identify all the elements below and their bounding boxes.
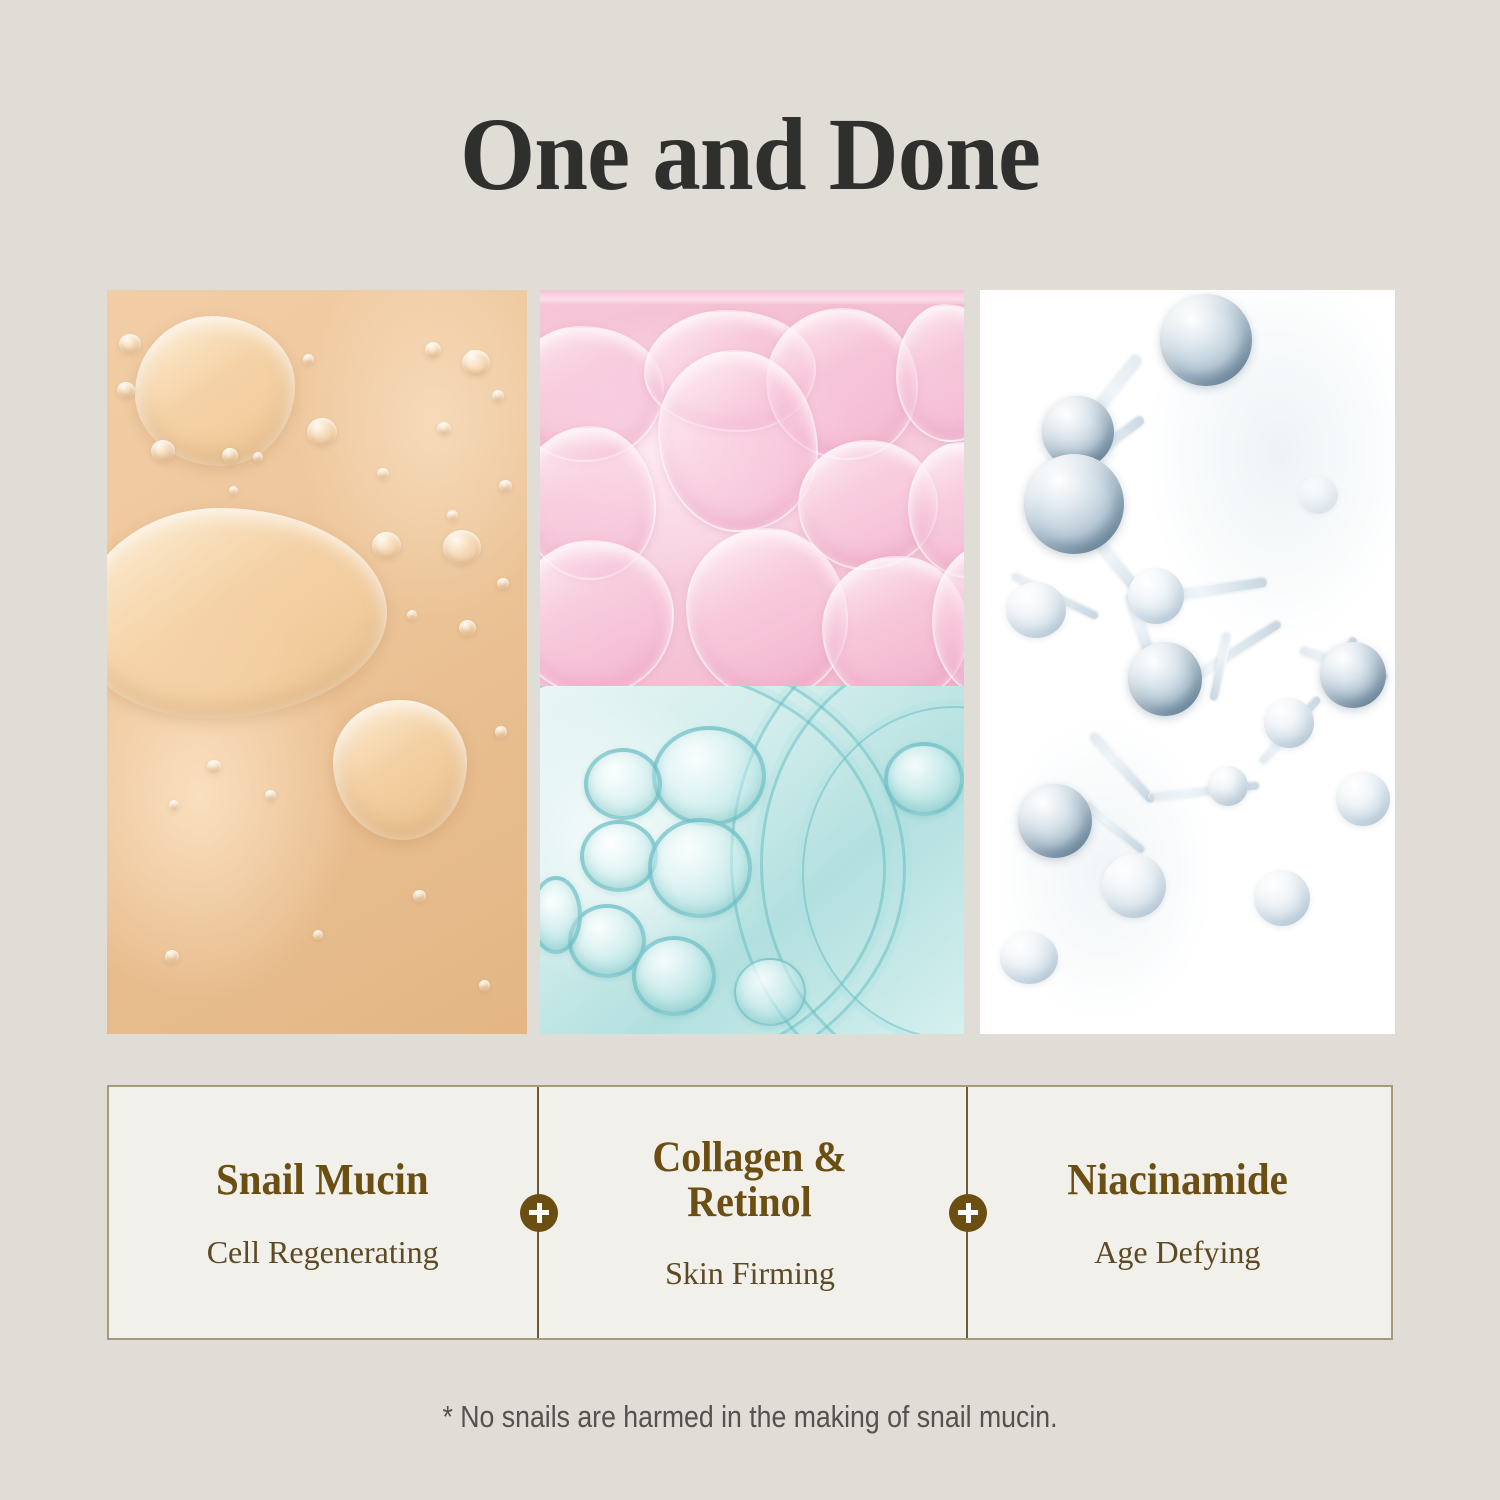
bubble-icon: [584, 748, 662, 820]
molecule-atom-icon: [1336, 772, 1390, 826]
droplet-icon: [119, 334, 141, 354]
ingredients-panel: Snail Mucin Cell Regenerating Collagen &…: [107, 1085, 1393, 1340]
droplet-icon: [499, 480, 512, 492]
droplet-icon: [165, 950, 179, 963]
molecule-atom-icon: [1160, 294, 1252, 386]
molecule-atom-icon: [1208, 766, 1248, 806]
footnote-disclaimer: * No snails are harmed in the making of …: [105, 1398, 1395, 1436]
bubble-icon: [580, 820, 658, 892]
droplet-icon: [229, 486, 238, 495]
droplet-icon: [307, 418, 337, 446]
ingredient-benefit: Skin Firming: [665, 1255, 835, 1291]
molecule-atom-icon: [1006, 582, 1066, 638]
droplet-icon: [459, 620, 476, 636]
ingredient-benefit: Cell Regenerating: [207, 1234, 439, 1270]
ingredient-cell-niacinamide: Niacinamide Age Defying: [964, 1087, 1391, 1338]
droplet-icon: [407, 610, 417, 620]
droplet-icon: [479, 980, 490, 991]
droplet-icon: [377, 468, 389, 479]
plus-icon: [949, 1194, 987, 1232]
molecule-atom-icon: [1264, 698, 1314, 748]
molecule-atom-icon: [1128, 568, 1184, 624]
pink-top-strip: [540, 290, 964, 304]
ingredient-name: Snail Mucin: [216, 1156, 429, 1204]
page-title: One and Done: [53, 100, 1448, 210]
droplet-icon: [169, 800, 179, 810]
droplet-icon: [497, 578, 509, 589]
ingredient-cell-snail-mucin: Snail Mucin Cell Regenerating: [109, 1087, 536, 1338]
droplet-icon: [443, 530, 481, 565]
molecule-atom-icon: [1320, 642, 1386, 708]
panel-niacinamide-molecule: [980, 290, 1395, 1034]
ingredient-name: Niacinamide: [1067, 1156, 1288, 1204]
droplet-icon: [372, 532, 401, 559]
molecule-atom-icon: [1024, 454, 1124, 554]
droplet-icon: [151, 440, 175, 462]
bubble-icon: [734, 958, 806, 1026]
ingredient-name-line-2: Retinol: [653, 1180, 847, 1225]
molecule-atom-icon: [1018, 784, 1092, 858]
molecule-atom-icon: [1000, 932, 1058, 984]
panel-collagen-pink-cells: [540, 290, 964, 686]
bubble-icon: [632, 936, 716, 1016]
ingredient-name: Collagen & Retinol: [653, 1135, 847, 1225]
ingredient-cell-collagen-retinol: Collagen & Retinol Skin Firming: [536, 1087, 963, 1338]
droplet-icon: [447, 510, 458, 521]
droplet-icon: [425, 342, 441, 358]
ingredient-divider-1: [537, 1087, 539, 1338]
droplet-icon: [413, 890, 426, 902]
molecule-atom-icon: [1298, 476, 1338, 514]
droplet-icon: [207, 760, 221, 773]
panel-snail-mucin-gel-texture: [107, 290, 527, 1034]
droplet-icon: [313, 930, 323, 940]
droplet-icon: [222, 448, 238, 463]
plus-icon: [520, 1194, 558, 1232]
molecule-atom-icon: [1102, 854, 1166, 918]
droplet-icon: [492, 390, 504, 402]
bubble-icon: [652, 726, 766, 826]
bubble-icon: [884, 742, 964, 816]
droplet-icon: [462, 350, 490, 376]
ingredient-divider-2: [966, 1087, 968, 1338]
droplet-icon: [253, 452, 263, 462]
bubble-icon: [648, 818, 752, 918]
droplet-icon: [117, 382, 135, 398]
droplet-icon: [437, 422, 451, 435]
droplet-icon: [265, 790, 276, 801]
infographic-page: One and Done: [0, 0, 1500, 1500]
ingredient-name-line-1: Collagen &: [653, 1135, 847, 1180]
droplet-icon: [495, 726, 507, 738]
droplet-icon: [303, 354, 314, 365]
molecule-atom-icon: [1128, 642, 1202, 716]
ingredient-benefit: Age Defying: [1094, 1234, 1260, 1270]
molecule-atom-icon: [1254, 870, 1310, 926]
panel-retinol-petri-dish: [540, 686, 964, 1034]
ingredient-image-gallery: [107, 290, 1395, 1034]
